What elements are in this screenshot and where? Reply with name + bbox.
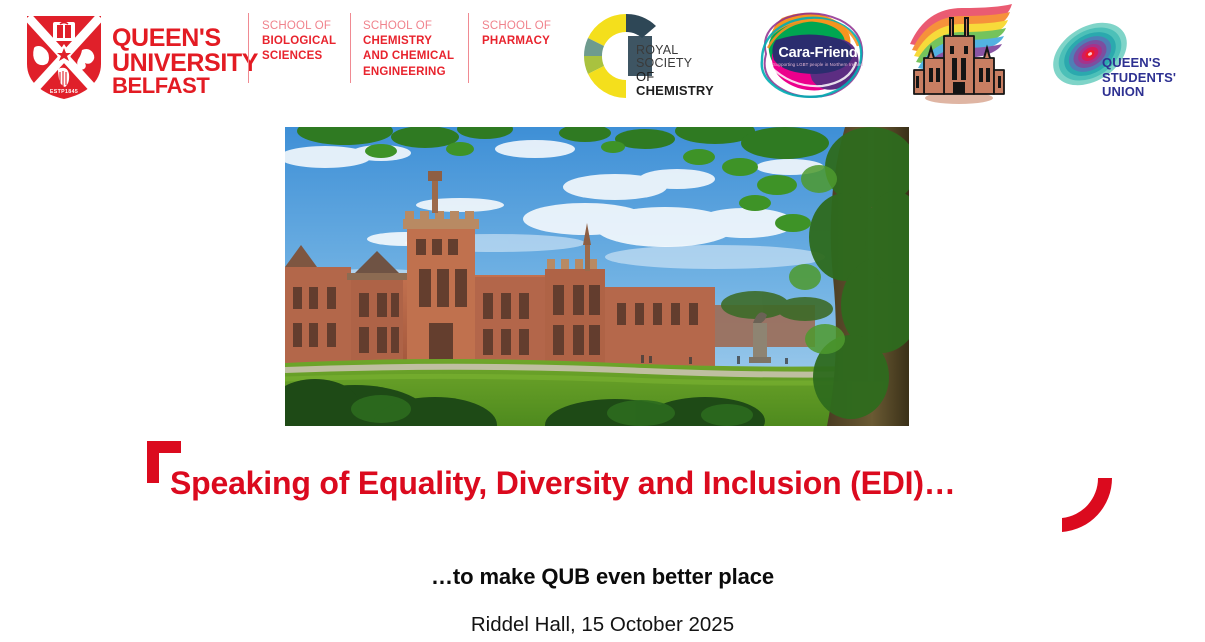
logo-bar: ESTP1845 QUEEN'S UNIVERSITY BELFAST SCHO… [0, 0, 1205, 112]
campus-photo-illustration [285, 127, 909, 426]
queens-students-union-logo: QUEEN'S STUDENTS' UNION [1046, 12, 1196, 104]
qub-shield-icon: ESTP1845 [24, 14, 104, 100]
qub-wordmark-line2: UNIVERSITY [112, 51, 262, 76]
queens-university-belfast-logo: ESTP1845 QUEEN'S UNIVERSITY BELFAST [24, 12, 239, 102]
lanyon-building-campus-photo [285, 127, 909, 426]
school-of-chemistry-and-chemical-engineering: SCHOOL OF CHEMISTRY AND CHEMICAL ENGINEE… [363, 19, 454, 80]
school-2-line1: CHEMISTRY [363, 34, 454, 49]
qsu-line3: UNION [1102, 85, 1176, 100]
rainbow-lanyon-building-logo [900, 2, 1018, 106]
school-2-line3: ENGINEERING [363, 65, 454, 80]
qsu-line1: QUEEN'S [1102, 56, 1176, 71]
school-2-line2: AND CHEMICAL [363, 49, 454, 64]
swoosh-arc [1056, 476, 1118, 538]
qub-wordmark-line1: QUEEN'S [112, 26, 262, 51]
qub-wordmark: QUEEN'S UNIVERSITY BELFAST [112, 26, 262, 97]
quote-close-swoosh-icon [1056, 476, 1118, 538]
cara-friend-label: Cara-Friend [772, 45, 864, 61]
rsc-line1: ROYAL SOCIETY [636, 44, 730, 70]
rsc-wordmark: ROYAL SOCIETY OF CHEMISTRY [636, 44, 730, 98]
rsc-line2-bold: CHEMISTRY [636, 83, 714, 98]
page-subtitle: …to make QUB even better place [0, 564, 1205, 590]
logo-divider-1 [248, 13, 249, 83]
cara-friend-strapline: Supporting LGBT people in Northern Irela… [772, 62, 864, 67]
school-of-biological-sciences: SCHOOL OF BIOLOGICAL SCIENCES [262, 19, 336, 65]
qsu-wordmark: QUEEN'S STUDENTS' UNION [1102, 56, 1176, 100]
school-of-pharmacy: SCHOOL OF PHARMACY [482, 19, 551, 49]
school-1-prefix: SCHOOL OF [262, 19, 336, 34]
school-3-prefix: SCHOOL OF [482, 19, 551, 34]
royal-society-of-chemistry-logo: ROYAL SOCIETY OF CHEMISTRY [578, 10, 730, 102]
cara-friend-logo: Cara-Friend Supporting LGBT people in No… [752, 8, 877, 104]
page-title: Speaking of Equality, Diversity and Incl… [170, 465, 1090, 502]
qub-wordmark-line3: BELFAST [112, 75, 262, 97]
school-2-prefix: SCHOOL OF [363, 19, 454, 34]
rsc-line2: OF CHEMISTRY [636, 70, 730, 97]
school-1-line2: SCIENCES [262, 49, 336, 64]
qsu-line2: STUDENTS' [1102, 71, 1176, 86]
logo-divider-3 [468, 13, 469, 83]
event-venue-date: Riddel Hall, 15 October 2025 [0, 613, 1205, 637]
school-1-line1: BIOLOGICAL [262, 34, 336, 49]
svg-text:ESTP1845: ESTP1845 [50, 89, 78, 95]
bracket-vertical [147, 441, 159, 483]
school-3-line1: PHARMACY [482, 34, 551, 49]
rainbow-building-icon [900, 2, 1018, 106]
logo-divider-2 [350, 13, 351, 83]
